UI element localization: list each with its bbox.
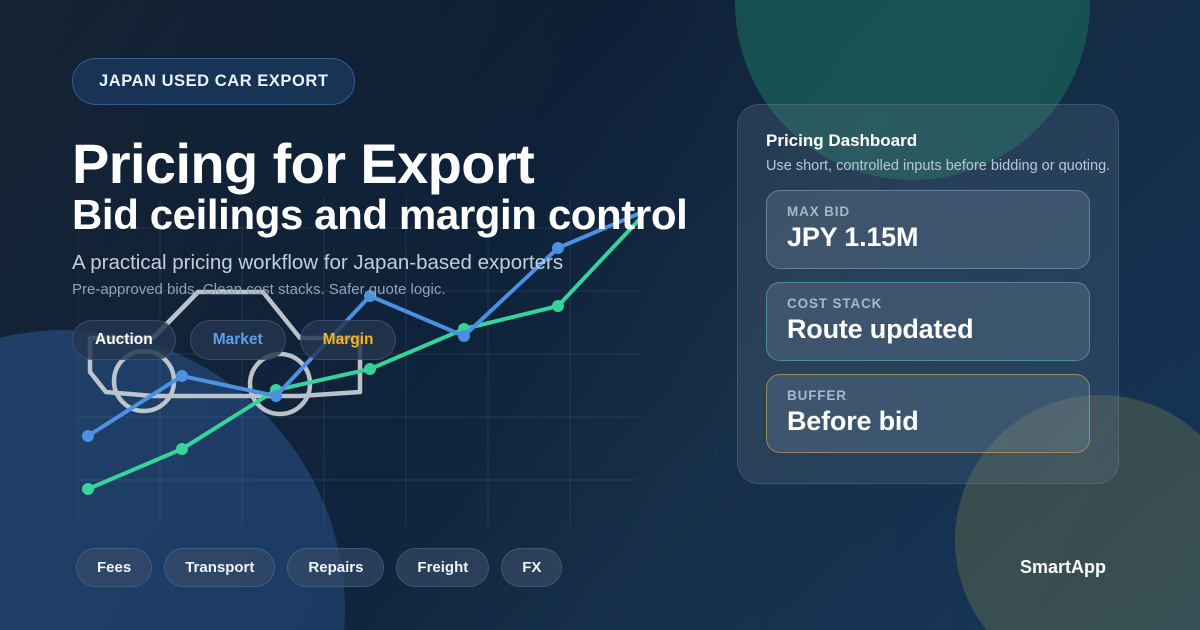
page-subtitle: Bid ceilings and margin control bbox=[72, 193, 772, 237]
metric-value: Before bid bbox=[787, 406, 1069, 437]
metric-card-cost-stack[interactable]: COST STACK Route updated bbox=[766, 282, 1090, 361]
tag-fees[interactable]: Fees bbox=[76, 548, 152, 587]
hero-canvas: JAPAN USED CAR EXPORT Pricing for Export… bbox=[0, 0, 1200, 630]
metric-label: BUFFER bbox=[787, 388, 1069, 403]
tag-freight[interactable]: Freight bbox=[396, 548, 489, 587]
panel-subtitle: Use short, controlled inputs before bidd… bbox=[766, 158, 1090, 174]
metric-card-list: MAX BID JPY 1.15M COST STACK Route updat… bbox=[766, 190, 1090, 453]
metric-label: MAX BID bbox=[787, 204, 1069, 219]
panel-title: Pricing Dashboard bbox=[766, 131, 1090, 151]
hero-lede: A practical pricing workflow for Japan-b… bbox=[72, 251, 772, 275]
hero-content: JAPAN USED CAR EXPORT Pricing for Export… bbox=[72, 58, 772, 360]
metric-card-max-bid[interactable]: MAX BID JPY 1.15M bbox=[766, 190, 1090, 269]
page-title: Pricing for Export bbox=[72, 137, 772, 191]
tag-transport[interactable]: Transport bbox=[164, 548, 275, 587]
metric-label: COST STACK bbox=[787, 296, 1069, 311]
metric-value: Route updated bbox=[787, 314, 1069, 345]
tag-fx[interactable]: FX bbox=[501, 548, 562, 587]
pricing-mode-pills: Auction Market Margin bbox=[72, 320, 772, 360]
metric-card-buffer[interactable]: BUFFER Before bid bbox=[766, 374, 1090, 453]
brand-logo: SmartApp bbox=[1020, 557, 1106, 578]
pricing-dashboard-panel: Pricing Dashboard Use short, controlled … bbox=[737, 104, 1119, 484]
hero-note: Pre-approved bids. Clean cost stacks. Sa… bbox=[72, 281, 772, 298]
pill-market[interactable]: Market bbox=[190, 320, 286, 360]
cost-component-tags: Fees Transport Repairs Freight FX bbox=[76, 548, 562, 587]
metric-value: JPY 1.15M bbox=[787, 222, 1069, 253]
category-badge: JAPAN USED CAR EXPORT bbox=[72, 58, 355, 105]
pill-margin[interactable]: Margin bbox=[300, 320, 397, 360]
tag-repairs[interactable]: Repairs bbox=[287, 548, 384, 587]
pill-auction[interactable]: Auction bbox=[72, 320, 176, 360]
